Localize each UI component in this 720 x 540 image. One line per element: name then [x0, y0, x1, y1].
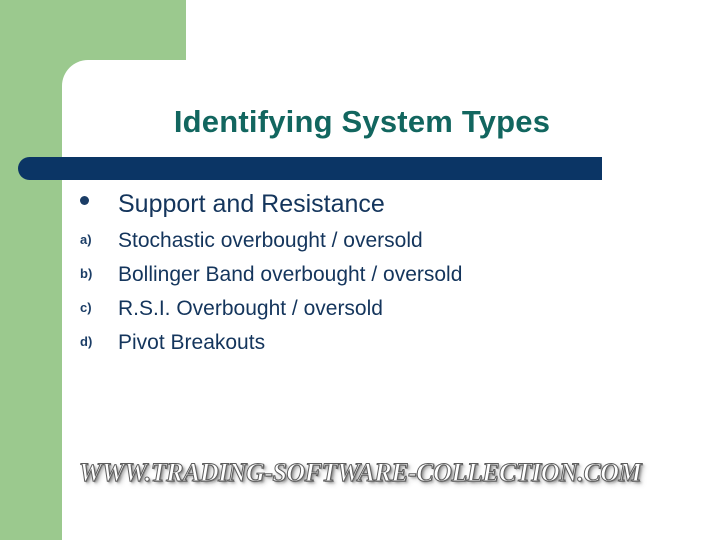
list-item: a) Stochastic overbought / oversold [70, 229, 630, 263]
list-item-label: Support and Resistance [118, 190, 385, 219]
list-marker-c: c) [70, 301, 118, 314]
list-marker-a: a) [70, 233, 118, 246]
bullet-icon [70, 196, 118, 209]
list-item: d) Pivot Breakouts [70, 331, 630, 365]
list-item: b) Bollinger Band overbought / oversold [70, 263, 630, 297]
list-item-label: Bollinger Band overbought / oversold [118, 263, 462, 287]
list-marker-b: b) [70, 267, 118, 280]
page-title: Identifying System Types [62, 104, 662, 140]
list-item: c) R.S.I. Overbought / oversold [70, 297, 630, 331]
presentation-slide: Identifying System Types Support and Res… [0, 0, 720, 540]
title-divider-bar [18, 157, 602, 180]
list-item-label: R.S.I. Overbought / oversold [118, 297, 383, 321]
list-item: Support and Resistance [70, 190, 630, 229]
list-marker-d: d) [70, 335, 118, 348]
list-item-label: Pivot Breakouts [118, 331, 265, 355]
list-item-label: Stochastic overbought / oversold [118, 229, 423, 253]
body-bullet-list: Support and Resistance a) Stochastic ove… [70, 190, 630, 365]
watermark-text: WWW.TRADING-SOFTWARE-COLLECTION.COM [0, 458, 720, 488]
